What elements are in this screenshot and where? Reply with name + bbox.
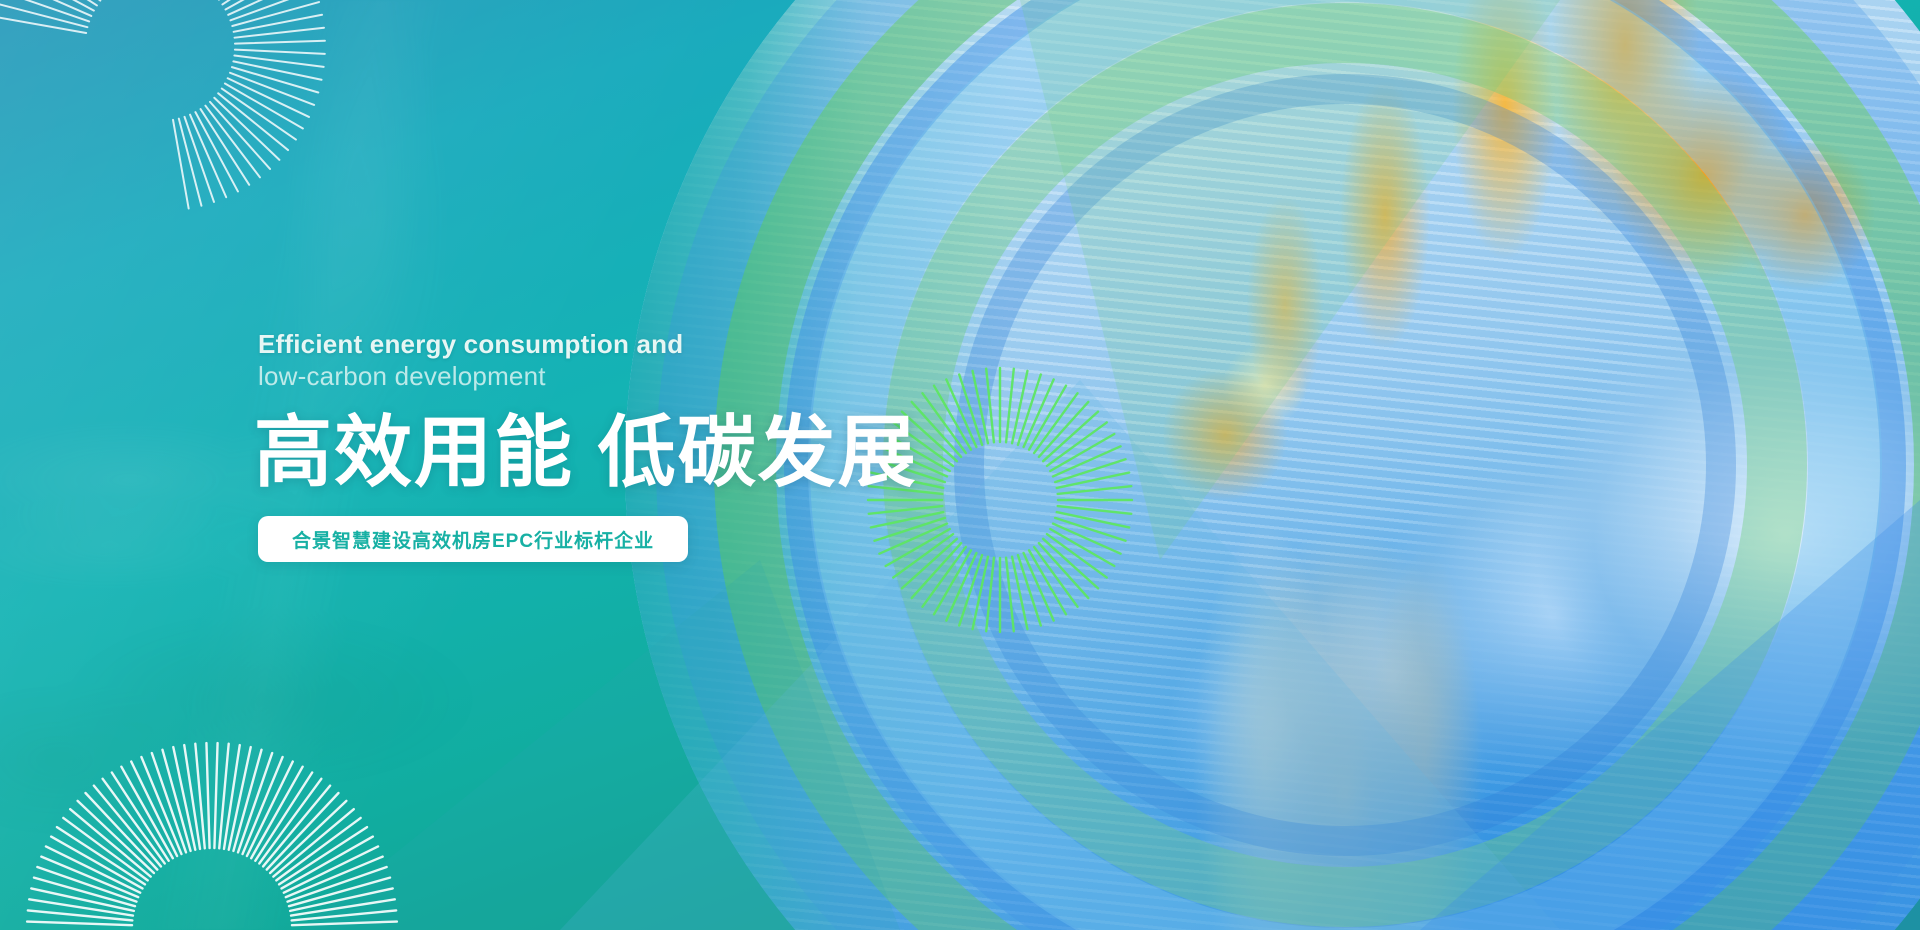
tagline-pill-label: 合景智慧建设高效机房EPC行业标杆企业 bbox=[292, 526, 654, 553]
page-title: 高效用能 低碳发展 bbox=[254, 410, 1018, 494]
eyebrow-line-1: Efficient energy consumption and bbox=[258, 330, 1018, 359]
sunburst-icon-top-left bbox=[0, 0, 325, 208]
tagline-pill[interactable]: 合景智慧建设高效机房EPC行业标杆企业 bbox=[258, 516, 688, 562]
wedge-overlay-blue-corner bbox=[1420, 500, 1920, 930]
eyebrow-line-2: low-carbon development bbox=[258, 361, 1018, 392]
hero-banner: Efficient energy consumption and low-car… bbox=[0, 0, 1920, 930]
hero-copy: Efficient energy consumption and low-car… bbox=[258, 330, 1018, 562]
